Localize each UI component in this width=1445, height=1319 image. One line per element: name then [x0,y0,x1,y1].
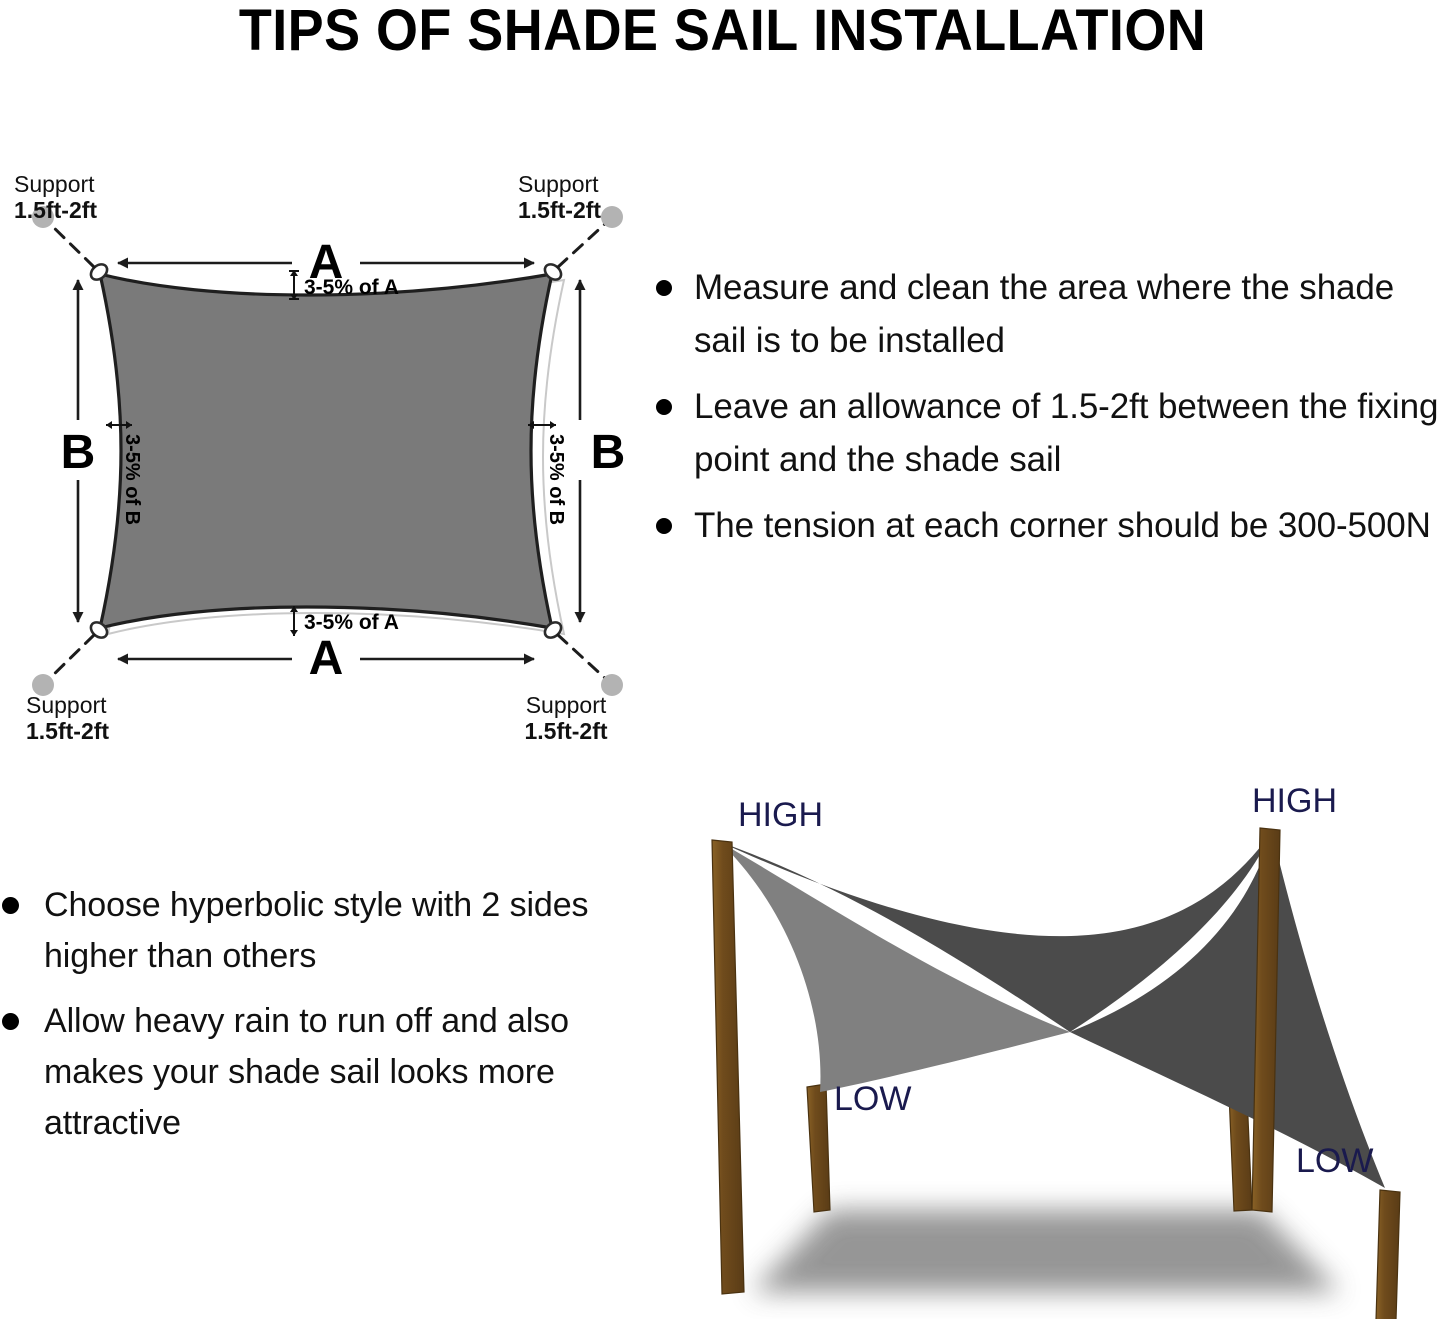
label-high-right: HIGH [1252,782,1337,820]
support-label-text: Support [518,171,599,197]
support-label-value: 1.5ft-2ft [14,197,97,223]
page-title: TIPS OF SHADE SAIL INSTALLATION [51,0,1395,62]
list-item-text: The tension at each corner should be 300… [694,506,1431,545]
sail-body [100,274,552,628]
label-low-left: LOW [834,1080,911,1118]
sag-top-label: 3-5% of A [304,276,399,299]
list-item: Measure and clean the area where the sha… [648,262,1445,367]
label-low-right: LOW [1296,1142,1373,1180]
list-item: Allow heavy rain to run off and also mak… [0,996,630,1149]
tips-bullet-list-secondary: Choose hyperbolic style with 2 sides hig… [0,880,630,1149]
bullet-dot-icon [656,399,672,415]
label-high-left: HIGH [738,796,823,834]
support-label-bottom-right: Support 1.5ft-2ft [524,692,607,744]
dimension-b-right-label: B [591,426,626,479]
post-low-right-front [1376,1190,1400,1319]
support-label-top-left: Support 1.5ft-2ft [14,171,97,223]
tips-bullet-list: Measure and clean the area where the sha… [648,262,1445,553]
post-low-left [807,1084,830,1212]
list-item: Leave an allowance of 1.5-2ft between th… [648,381,1445,486]
bullet-dot-icon [656,280,672,296]
support-label-text: Support [26,692,107,718]
post-high-left [712,840,744,1294]
list-item-text: Measure and clean the area where the sha… [694,268,1394,360]
dimension-b-left-label: B [61,426,96,479]
ground-shadow [752,1210,1340,1292]
support-label-text: Support [526,692,607,718]
support-label-bottom-left: Support 1.5ft-2ft [26,692,109,744]
support-label-top-right: Support 1.5ft-2ft [518,171,601,223]
bullet-dot-icon [2,1013,19,1030]
bullet-dot-icon [2,897,19,914]
sag-right-label: 3-5% of B [545,434,567,525]
rect-sail-diagram: Support 1.5ft-2ft Support 1.5ft-2ft Supp… [0,150,660,750]
list-item: Choose hyperbolic style with 2 sides hig… [0,880,630,982]
support-label-text: Support [14,171,95,197]
list-item-text: Choose hyperbolic style with 2 sides hig… [44,886,588,975]
list-item-text: Leave an allowance of 1.5-2ft between th… [694,387,1438,479]
list-item-text: Allow heavy rain to run off and also mak… [44,1002,569,1142]
sag-indicator-bottom [290,606,298,636]
installation-tips-list: Measure and clean the area where the sha… [648,262,1445,662]
support-label-value: 1.5ft-2ft [518,197,601,223]
sag-left-label: 3-5% of B [121,434,143,525]
sag-bottom-label: 3-5% of A [304,611,399,634]
hyperbolic-tips-list: Choose hyperbolic style with 2 sides hig… [0,880,630,1210]
bullet-dot-icon [656,518,672,534]
dimension-a-bottom-label: A [309,632,344,685]
support-label-value: 1.5ft-2ft [524,718,607,744]
support-label-value: 1.5ft-2ft [26,718,109,744]
list-item: The tension at each corner should be 300… [648,500,1445,553]
hyperbolic-sail-diagram: HIGH HIGH LOW LOW [640,780,1445,1319]
